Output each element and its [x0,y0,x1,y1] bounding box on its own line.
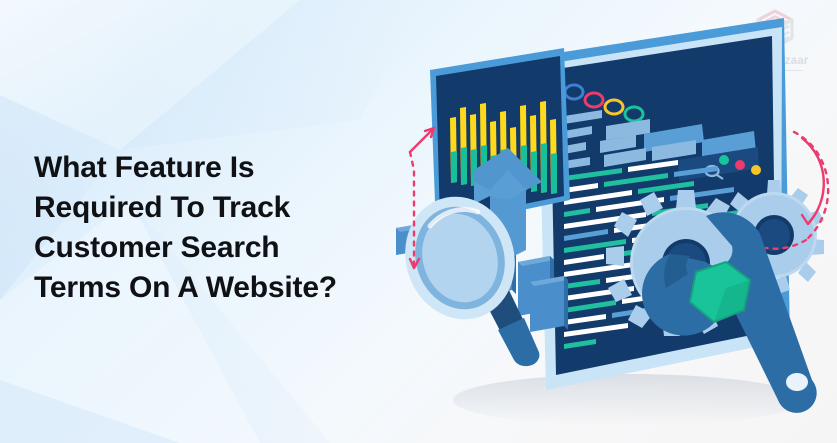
dot-green [719,155,729,165]
dot-pink [735,160,745,170]
headline-line-4: Terms On A Website? [34,268,384,308]
hero-illustration [378,0,837,443]
blog-banner: What Feature Is Required To Track Custom… [0,0,837,443]
headline-line-2: Required To Track [34,188,384,228]
headline-line-3: Customer Search [34,228,384,268]
headline-line-1: What Feature Is [34,148,384,188]
page-title: What Feature Is Required To Track Custom… [34,148,384,308]
dot-yellow [751,165,761,175]
